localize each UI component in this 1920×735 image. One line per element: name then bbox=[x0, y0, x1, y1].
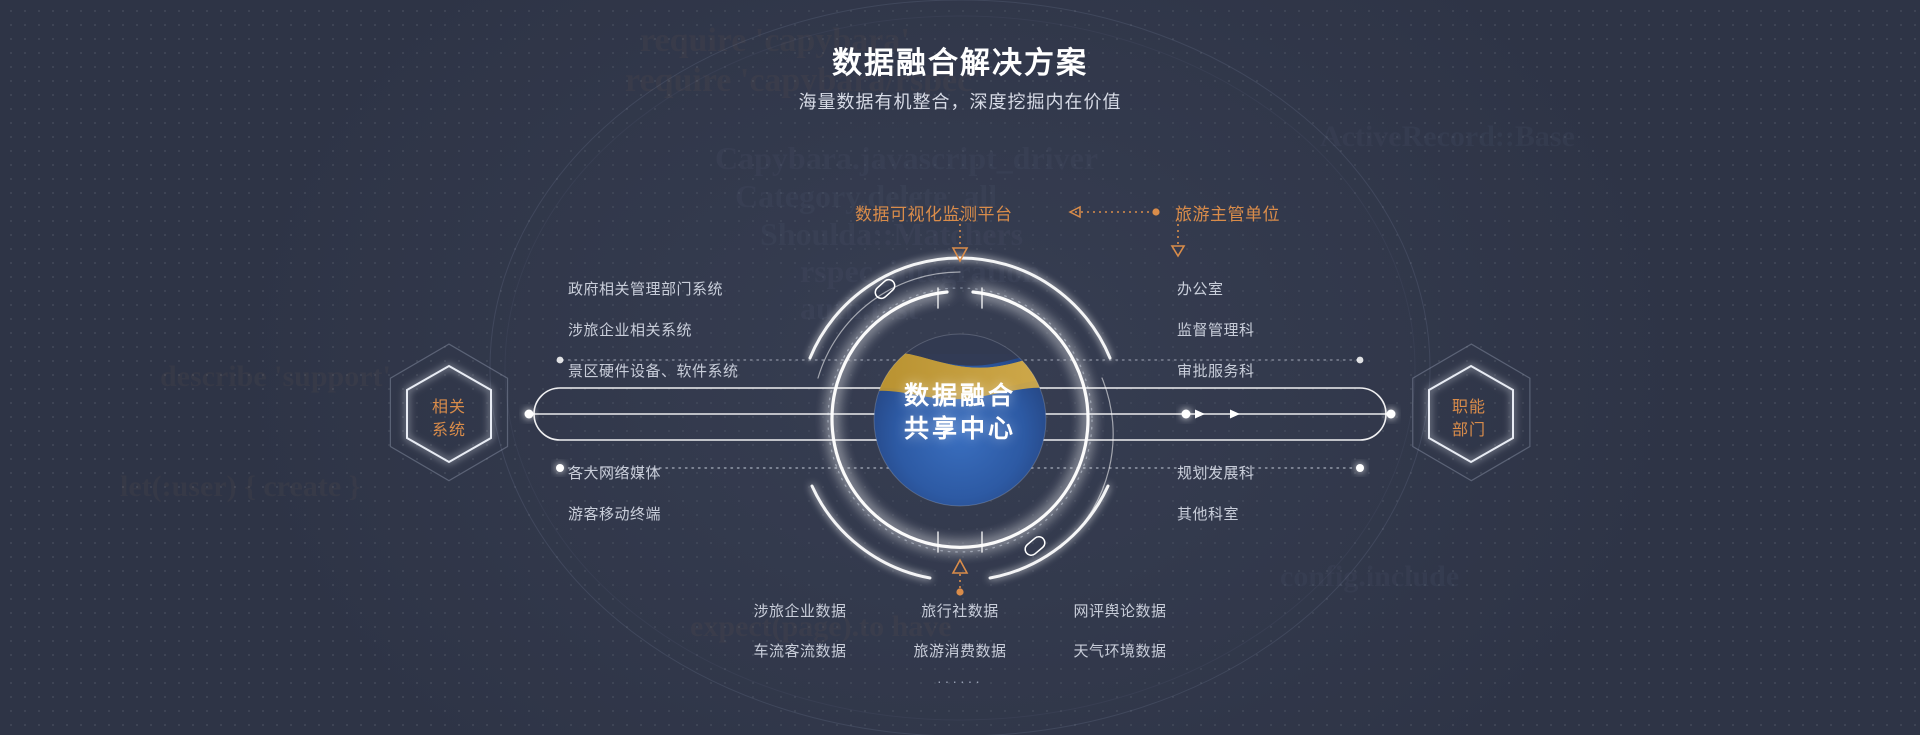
list-item[interactable]: 政府相关管理部门系统 bbox=[568, 278, 739, 299]
list-item[interactable]: 各大网络媒体 bbox=[568, 462, 661, 483]
bottom-data-cell[interactable]: 旅游消费数据 bbox=[890, 640, 1030, 661]
page-subtitle: 海量数据有机整合，深度挖掘内在价值 bbox=[0, 88, 1920, 114]
bottom-data-cell[interactable]: 涉旅企业数据 bbox=[730, 600, 870, 621]
list-item[interactable]: 景区硬件设备、软件系统 bbox=[568, 360, 739, 381]
bottom-data-row: 车流客流数据 旅游消费数据 天气环境数据 bbox=[730, 640, 1190, 661]
bottom-data-cell[interactable]: 旅行社数据 bbox=[890, 600, 1030, 621]
list-item[interactable]: 游客移动终端 bbox=[568, 503, 661, 524]
list-item[interactable]: 监督管理科 bbox=[1177, 319, 1255, 340]
bottom-data-row: 涉旅企业数据 旅行社数据 网评舆论数据 bbox=[730, 600, 1190, 621]
hub-label: 数据融合 共享中心 bbox=[800, 380, 1120, 446]
arrow-bottom-data bbox=[953, 560, 967, 596]
hexagon-left-label-line1: 相关 bbox=[404, 396, 494, 419]
hub-label-line2: 共享中心 bbox=[800, 413, 1120, 446]
hexagon-right-label: 职能 部门 bbox=[1424, 396, 1514, 442]
list-item[interactable]: 涉旅企业相关系统 bbox=[568, 319, 739, 340]
label-visualization-platform[interactable]: 数据可视化监测平台 bbox=[855, 200, 1013, 225]
bottom-data-cell[interactable]: 网评舆论数据 bbox=[1050, 600, 1190, 621]
bottom-data-ellipsis: ······ bbox=[730, 673, 1190, 689]
list-right-upper-departments: 办公室 监督管理科 审批服务科 bbox=[1177, 278, 1255, 401]
label-tourism-authority[interactable]: 旅游主管单位 bbox=[1175, 200, 1280, 225]
hexagon-left-label-line2: 系统 bbox=[404, 419, 494, 442]
page-title: 数据融合解决方案 bbox=[0, 38, 1920, 82]
list-item[interactable]: 其他科室 bbox=[1177, 503, 1255, 524]
list-right-lower-departments: 规划发展科 其他科室 bbox=[1177, 462, 1255, 544]
list-item[interactable]: 审批服务科 bbox=[1177, 360, 1255, 381]
hexagon-right-label-line1: 职能 bbox=[1424, 396, 1514, 419]
list-item[interactable]: 办公室 bbox=[1177, 278, 1255, 299]
arrow-platform-from-authority bbox=[1070, 207, 1160, 217]
hexagon-left-label: 相关 系统 bbox=[404, 396, 494, 442]
bottom-data-cell[interactable]: 天气环境数据 bbox=[1050, 640, 1190, 661]
bottom-data-grid: 涉旅企业数据 旅行社数据 网评舆论数据 车流客流数据 旅游消费数据 天气环境数据 bbox=[730, 600, 1190, 680]
list-left-lower-sources: 各大网络媒体 游客移动终端 bbox=[568, 462, 661, 544]
bottom-data-cell[interactable]: 车流客流数据 bbox=[730, 640, 870, 661]
hexagon-right-label-line2: 部门 bbox=[1424, 419, 1514, 442]
list-left-upper-sources: 政府相关管理部门系统 涉旅企业相关系统 景区硬件设备、软件系统 bbox=[568, 278, 739, 401]
hub-label-line1: 数据融合 bbox=[800, 380, 1120, 413]
list-item[interactable]: 规划发展科 bbox=[1177, 462, 1255, 483]
